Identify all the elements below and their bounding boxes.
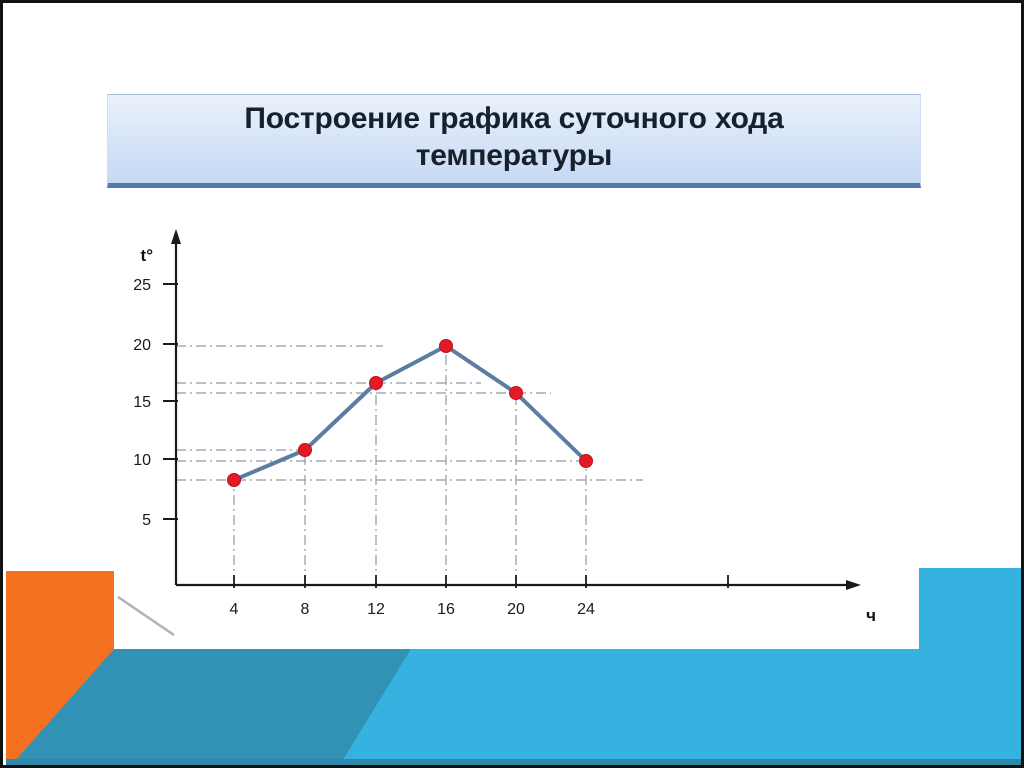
chart-svg: 25 20 15 10 5 t° 4 8 12 16 20 24 ч (3, 203, 1024, 663)
x-tick-label-8: 8 (301, 601, 310, 618)
y-tick-label-15: 15 (133, 394, 151, 411)
y-tick-label-25: 25 (133, 277, 151, 294)
y-axis-label: t° (141, 246, 154, 265)
title-banner: Построение графика суточного хода темпер… (107, 94, 921, 188)
y-tick-label-5: 5 (142, 512, 151, 529)
temperature-line-chart: 25 20 15 10 5 t° 4 8 12 16 20 24 ч (3, 203, 1024, 663)
page-title: Построение графика суточного хода темпер… (164, 100, 864, 179)
y-tick-label-10: 10 (133, 452, 151, 469)
vertical-gridlines (234, 346, 586, 585)
slide-canvas: Построение графика суточного хода темпер… (0, 0, 1024, 768)
x-axis-label: ч (866, 606, 876, 625)
temperature-line (234, 346, 586, 480)
x-tick-label-4: 4 (230, 601, 239, 618)
data-point-16h[interactable] (440, 340, 453, 353)
x-tick-label-24: 24 (577, 601, 595, 618)
data-point-20h[interactable] (510, 387, 523, 400)
data-point-4h[interactable] (228, 474, 241, 487)
x-tick-label-12: 12 (367, 601, 385, 618)
data-point-24h[interactable] (580, 455, 593, 468)
data-point-12h[interactable] (370, 377, 383, 390)
x-tick-label-20: 20 (507, 601, 525, 618)
data-point-8h[interactable] (299, 444, 312, 457)
y-tick-label-20: 20 (133, 337, 151, 354)
y-axis (171, 229, 181, 585)
x-axis (176, 580, 861, 590)
x-tick-label-16: 16 (437, 601, 455, 618)
bottom-strip-decoration (6, 759, 1024, 768)
